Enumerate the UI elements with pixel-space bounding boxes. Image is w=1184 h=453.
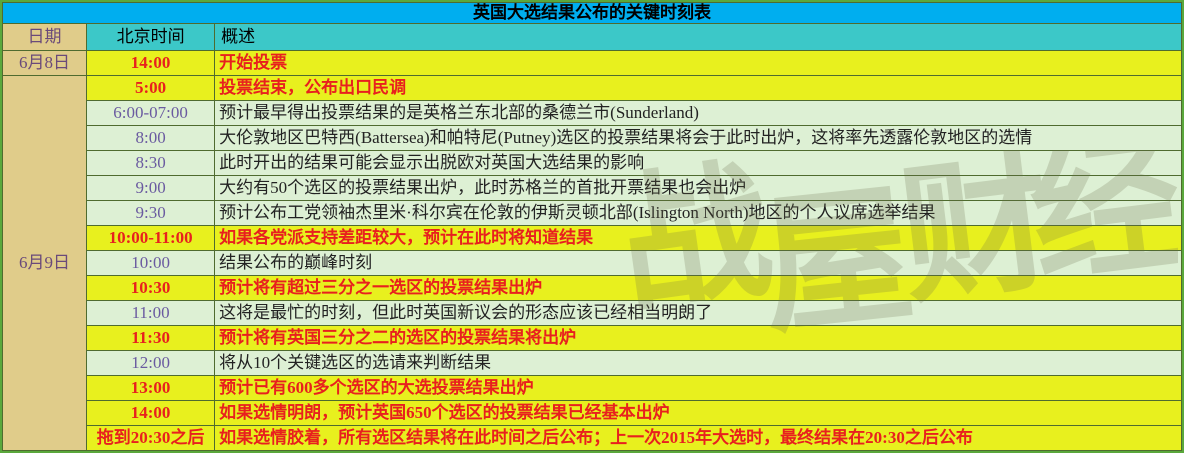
table-header-row: 日期 北京时间 概述 [3, 24, 1182, 51]
table-row: 9:00 大约有50个选区的投票结果出炉，此时苏格兰的首批开票结果也会出炉 [3, 176, 1182, 201]
timeline-table: 英国大选结果公布的关键时刻表 日期 北京时间 概述 6月8日 14:00 开始投… [2, 2, 1182, 451]
page-title: 英国大选结果公布的关键时刻表 [3, 3, 1182, 24]
table-row: 10:00 结果公布的巅峰时刻 [3, 251, 1182, 276]
time-cell: 14:00 [87, 401, 215, 426]
column-header-desc: 概述 [215, 24, 1182, 51]
column-header-time: 北京时间 [87, 24, 215, 51]
screenshot-root: 战 屋 财 经 英国大选结果公布的关键时刻表 日期 北京时间 概述 6月8日 [0, 0, 1184, 453]
table-row: 10:00-11:00 如果各党派支持差距较大，预计在此时将知道结果 [3, 226, 1182, 251]
time-cell: 5:00 [87, 76, 215, 101]
desc-cell: 投票结束，公布出口民调 [215, 76, 1182, 101]
time-cell: 8:00 [87, 126, 215, 151]
desc-cell: 预计已有600多个选区的大选投票结果出炉 [215, 376, 1182, 401]
time-cell: 9:00 [87, 176, 215, 201]
desc-cell: 如果选情胶着，所有选区结果将在此时间之后公布；上一次2015年大选时，最终结果在… [215, 426, 1182, 451]
time-cell: 9:30 [87, 201, 215, 226]
table-row: 13:00 预计已有600多个选区的大选投票结果出炉 [3, 376, 1182, 401]
desc-cell: 开始投票 [215, 51, 1182, 76]
table-row: 6月9日 5:00 投票结束，公布出口民调 [3, 76, 1182, 101]
time-cell: 拖到20:30之后 [87, 426, 215, 451]
table-title-row: 英国大选结果公布的关键时刻表 [3, 3, 1182, 24]
time-cell: 11:30 [87, 326, 215, 351]
desc-cell: 如果各党派支持差距较大，预计在此时将知道结果 [215, 226, 1182, 251]
desc-cell: 大伦敦地区巴特西(Battersea)和帕特尼(Putney)选区的投票结果将会… [215, 126, 1182, 151]
time-cell: 13:00 [87, 376, 215, 401]
time-cell: 11:00 [87, 301, 215, 326]
time-cell: 14:00 [87, 51, 215, 76]
desc-cell: 此时开出的结果可能会显示出脱欧对英国大选结果的影响 [215, 151, 1182, 176]
desc-cell: 预计最早得出投票结果的是英格兰东北部的桑德兰市(Sunderland) [215, 101, 1182, 126]
desc-cell: 如果选情明朗，预计英国650个选区的投票结果已经基本出炉 [215, 401, 1182, 426]
time-cell: 10:00-11:00 [87, 226, 215, 251]
table-row: 9:30 预计公布工党领袖杰里米·科尔宾在伦敦的伊斯灵顿北部(Islington… [3, 201, 1182, 226]
desc-cell: 将从10个关键选区的选请来判断结果 [215, 351, 1182, 376]
table-row: 10:30 预计将有超过三分之一选区的投票结果出炉 [3, 276, 1182, 301]
column-header-date: 日期 [3, 24, 87, 51]
desc-cell: 大约有50个选区的投票结果出炉，此时苏格兰的首批开票结果也会出炉 [215, 176, 1182, 201]
time-cell: 6:00-07:00 [87, 101, 215, 126]
desc-cell: 预计将有超过三分之一选区的投票结果出炉 [215, 276, 1182, 301]
table-row: 8:30 此时开出的结果可能会显示出脱欧对英国大选结果的影响 [3, 151, 1182, 176]
table-row: 14:00 如果选情明朗，预计英国650个选区的投票结果已经基本出炉 [3, 401, 1182, 426]
date-cell: 6月9日 [3, 76, 87, 451]
table-row: 11:00 这将是最忙的时刻，但此时英国新议会的形态应该已经相当明朗了 [3, 301, 1182, 326]
table-row: 6月8日 14:00 开始投票 [3, 51, 1182, 76]
table-row: 6:00-07:00 预计最早得出投票结果的是英格兰东北部的桑德兰市(Sunde… [3, 101, 1182, 126]
table-row: 拖到20:30之后 如果选情胶着，所有选区结果将在此时间之后公布；上一次2015… [3, 426, 1182, 451]
desc-cell: 预计将有英国三分之二的选区的投票结果将出炉 [215, 326, 1182, 351]
table-row: 8:00 大伦敦地区巴特西(Battersea)和帕特尼(Putney)选区的投… [3, 126, 1182, 151]
table-row: 12:00 将从10个关键选区的选请来判断结果 [3, 351, 1182, 376]
time-cell: 12:00 [87, 351, 215, 376]
time-cell: 8:30 [87, 151, 215, 176]
desc-cell: 预计公布工党领袖杰里米·科尔宾在伦敦的伊斯灵顿北部(Islington Nort… [215, 201, 1182, 226]
time-cell: 10:30 [87, 276, 215, 301]
time-cell: 10:00 [87, 251, 215, 276]
date-cell: 6月8日 [3, 51, 87, 76]
table-row: 11:30 预计将有英国三分之二的选区的投票结果将出炉 [3, 326, 1182, 351]
desc-cell: 这将是最忙的时刻，但此时英国新议会的形态应该已经相当明朗了 [215, 301, 1182, 326]
desc-cell: 结果公布的巅峰时刻 [215, 251, 1182, 276]
